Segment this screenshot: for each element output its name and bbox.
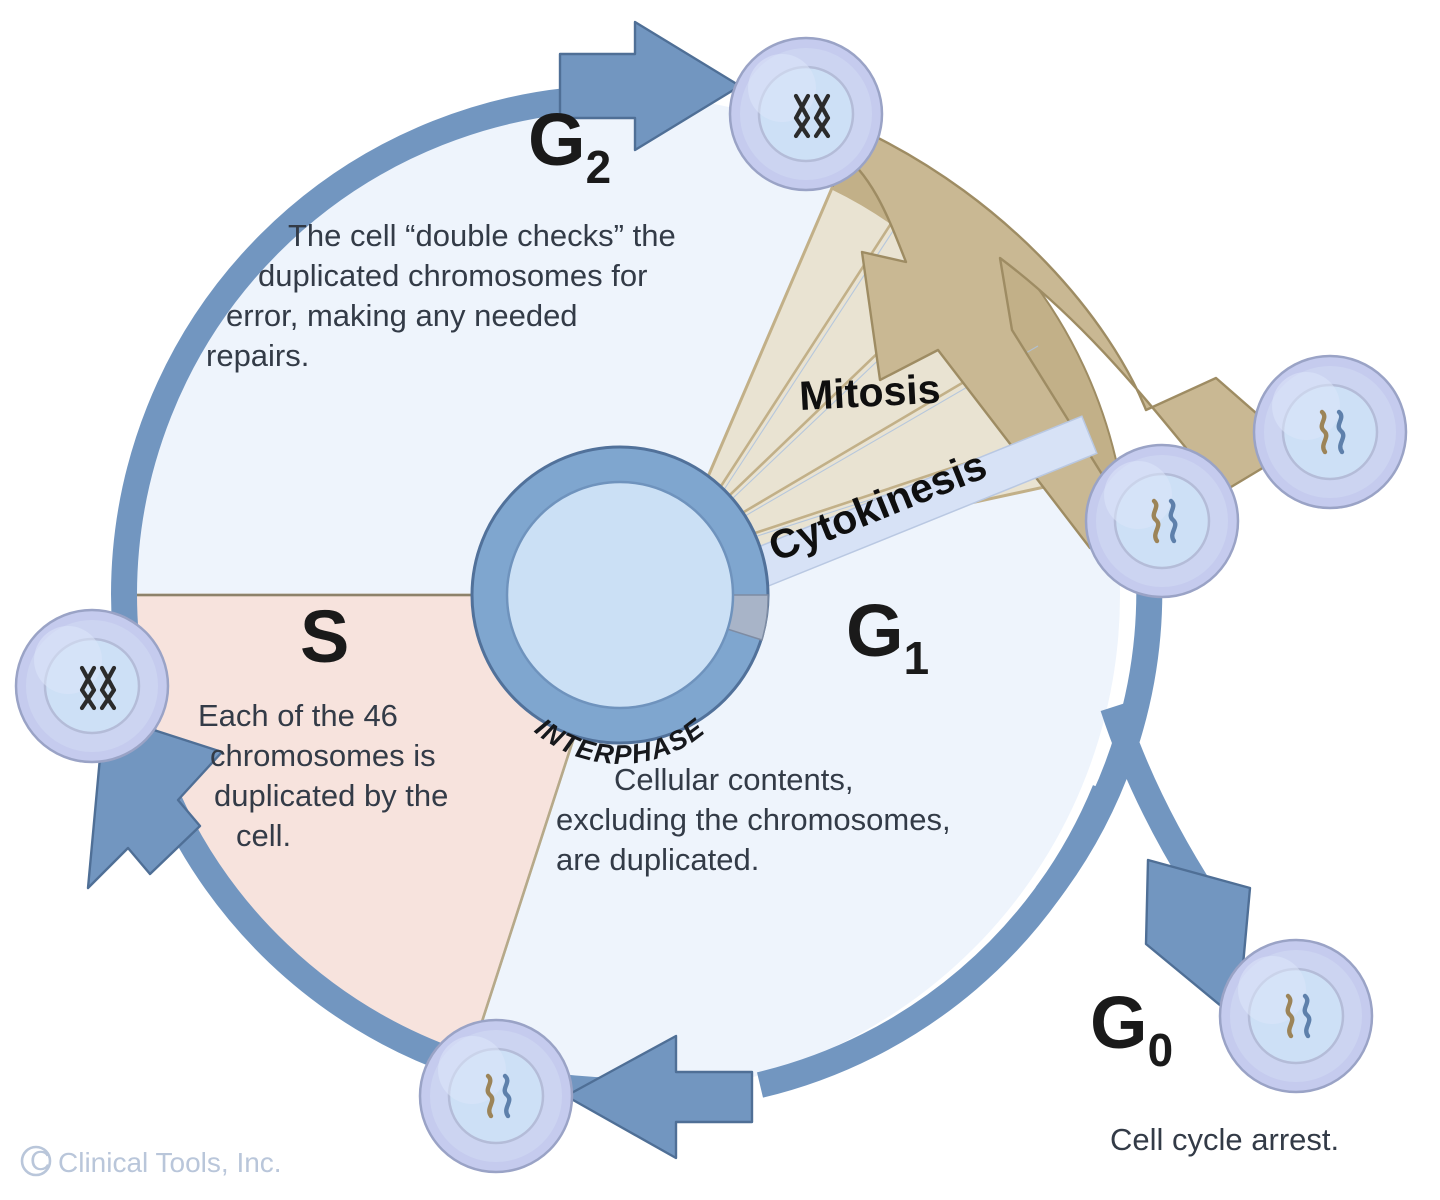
svg-text:duplicated chromosomes for: duplicated chromosomes for bbox=[258, 258, 647, 293]
svg-text:error, making any needed: error, making any needed bbox=[226, 298, 578, 333]
g0-phase-letter: G0 bbox=[1090, 981, 1173, 1076]
cell-daughter-far[interactable] bbox=[1254, 356, 1406, 508]
cell-g2-top[interactable] bbox=[730, 38, 882, 190]
svg-text:are duplicated.: are duplicated. bbox=[556, 842, 759, 877]
cell-daughter-near[interactable] bbox=[1086, 445, 1238, 597]
svg-text:Cellular contents,: Cellular contents, bbox=[614, 762, 854, 797]
svg-text:excluding the chromosomes,: excluding the chromosomes, bbox=[556, 802, 951, 837]
svg-text:chromosomes is: chromosomes is bbox=[210, 738, 436, 773]
svg-text:Each of the 46: Each of the 46 bbox=[198, 698, 398, 733]
credit: © C Clinical Tools, Inc. bbox=[22, 1145, 282, 1178]
cell-g1-bottom[interactable] bbox=[420, 1020, 572, 1172]
credit-text: Clinical Tools, Inc. bbox=[58, 1147, 282, 1178]
copyright-c-glyph: C bbox=[30, 1145, 50, 1176]
svg-text:cell.: cell. bbox=[236, 818, 291, 853]
diagram-canvas: INTERPHASE G2 The cell “double checks” t… bbox=[0, 0, 1440, 1200]
svg-text:duplicated by the: duplicated by the bbox=[214, 778, 448, 813]
mitosis-label: Mitosis bbox=[798, 366, 941, 419]
cell-cycle-diagram: INTERPHASE G2 The cell “double checks” t… bbox=[0, 0, 1440, 1200]
cell-g0[interactable] bbox=[1220, 940, 1372, 1092]
s-phase-letter: S bbox=[300, 595, 349, 678]
svg-text:The cell “double checks” the: The cell “double checks” the bbox=[288, 218, 676, 253]
g0-description: Cell cycle arrest. bbox=[1110, 1122, 1339, 1157]
svg-text:repairs.: repairs. bbox=[206, 338, 309, 373]
hub-inner-disc bbox=[507, 482, 733, 708]
cell-s-left[interactable] bbox=[16, 610, 168, 762]
